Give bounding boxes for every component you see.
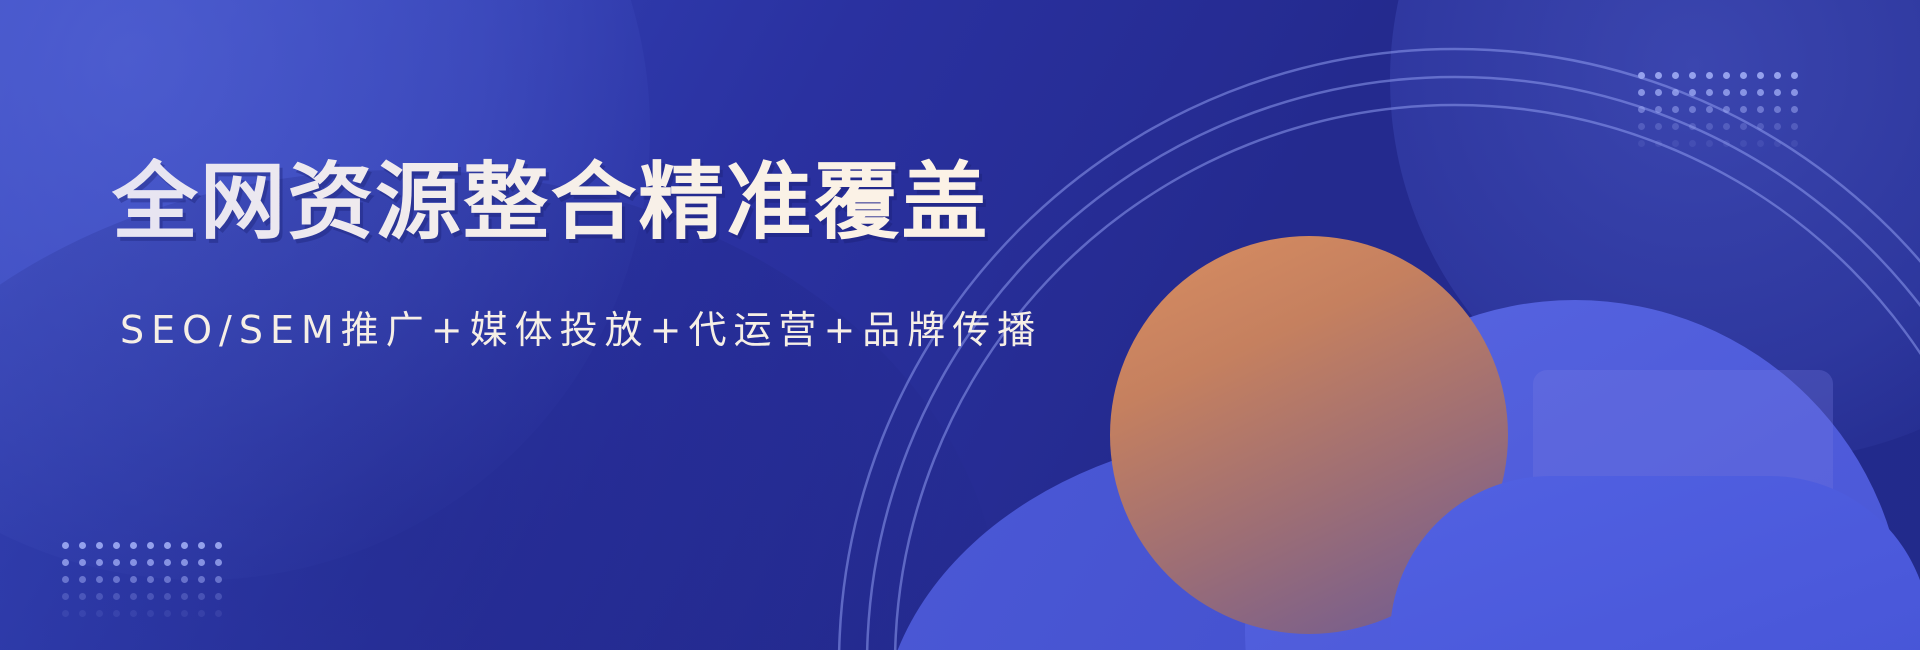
grid-dot [96,610,103,617]
grid-dot [130,559,137,566]
grid-dot [164,542,171,549]
grid-dot [1757,106,1764,113]
grid-dot [79,559,86,566]
grid-dot [62,576,69,583]
grid-dot [1740,123,1747,130]
grid-dot [181,542,188,549]
grid-dot [113,542,120,549]
grid-dot [164,610,171,617]
grid-dot [1689,123,1696,130]
grid-dot [1689,89,1696,96]
grid-dot [113,593,120,600]
grid-dot [62,593,69,600]
grid-dot [113,576,120,583]
grid-dot [198,610,205,617]
grid-dot [215,610,222,617]
blue-rounded-shape-bottom-right [1390,476,1920,650]
grid-dot [1757,123,1764,130]
grid-dot [79,593,86,600]
grid-dot [130,576,137,583]
grid-dot [215,542,222,549]
grid-dot [181,610,188,617]
grid-dot [130,593,137,600]
dot-grid-top-right [1638,72,1808,157]
grid-dot [164,559,171,566]
grid-dot [96,576,103,583]
grid-dot [1757,140,1764,147]
grid-dot [1723,72,1730,79]
grid-dot [1740,140,1747,147]
grid-dot [130,610,137,617]
grid-dot [1706,140,1713,147]
grid-dot [1655,123,1662,130]
banner-subheadline: SEO/SEM推广+媒体投放+代运营+品牌传播 [120,299,1042,354]
grid-dot [1774,89,1781,96]
grid-dot [1774,123,1781,130]
grid-dot [79,576,86,583]
grid-dot [1655,89,1662,96]
grid-dot [96,542,103,549]
grid-dot [198,559,205,566]
grid-dot [1774,72,1781,79]
grid-dot [1672,123,1679,130]
grid-dot [62,542,69,549]
grid-dot [1655,72,1662,79]
grid-dot [1723,123,1730,130]
grid-dot [1655,106,1662,113]
grid-dot [1638,89,1645,96]
grid-dot [1655,140,1662,147]
grid-dot [1740,72,1747,79]
grid-dot [1740,89,1747,96]
dot-grid-bottom-left [62,542,232,627]
grid-dot [113,610,120,617]
grid-dot [215,559,222,566]
grid-dot [130,542,137,549]
grid-dot [181,559,188,566]
grid-dot [1672,89,1679,96]
grid-dot [1638,140,1645,147]
grid-dot [1791,89,1798,96]
grid-dot [1672,72,1679,79]
grid-dot [1672,140,1679,147]
marketing-banner: 全网资源整合精准覆盖 SEO/SEM推广+媒体投放+代运营+品牌传播 [0,0,1920,650]
grid-dot [1706,106,1713,113]
grid-dot [1791,140,1798,147]
grid-dot [164,593,171,600]
grid-dot [198,576,205,583]
grid-dot [79,610,86,617]
grid-dot [96,593,103,600]
grid-dot [181,576,188,583]
grid-dot [1757,89,1764,96]
banner-content: 全网资源整合精准覆盖 SEO/SEM推广+媒体投放+代运营+品牌传播 [112,158,1042,354]
grid-dot [1791,106,1798,113]
grid-dot [1706,123,1713,130]
grid-dot [198,593,205,600]
banner-headline: 全网资源整合精准覆盖 [112,158,1061,247]
grid-dot [113,559,120,566]
grid-dot [147,593,154,600]
grid-dot [1757,72,1764,79]
grid-dot [147,576,154,583]
grid-dot [147,542,154,549]
grid-dot [147,559,154,566]
grid-dot [1638,123,1645,130]
grid-dot [1791,72,1798,79]
grid-dot [79,542,86,549]
grid-dot [1689,106,1696,113]
grid-dot [62,559,69,566]
grid-dot [1706,72,1713,79]
grid-dot [1774,140,1781,147]
grid-dot [1723,106,1730,113]
grid-dot [1689,140,1696,147]
grid-dot [1774,106,1781,113]
grid-dot [1723,140,1730,147]
grid-dot [215,593,222,600]
grid-dot [62,610,69,617]
grid-dot [1706,89,1713,96]
grid-dot [1672,106,1679,113]
grid-dot [1638,72,1645,79]
grid-dot [1689,72,1696,79]
grid-dot [181,593,188,600]
grid-dot [1723,89,1730,96]
grid-dot [96,559,103,566]
grid-dot [1740,106,1747,113]
grid-dot [198,542,205,549]
grid-dot [1638,106,1645,113]
grid-dot [164,576,171,583]
grid-dot [147,610,154,617]
grid-dot [215,576,222,583]
grid-dot [1791,123,1798,130]
